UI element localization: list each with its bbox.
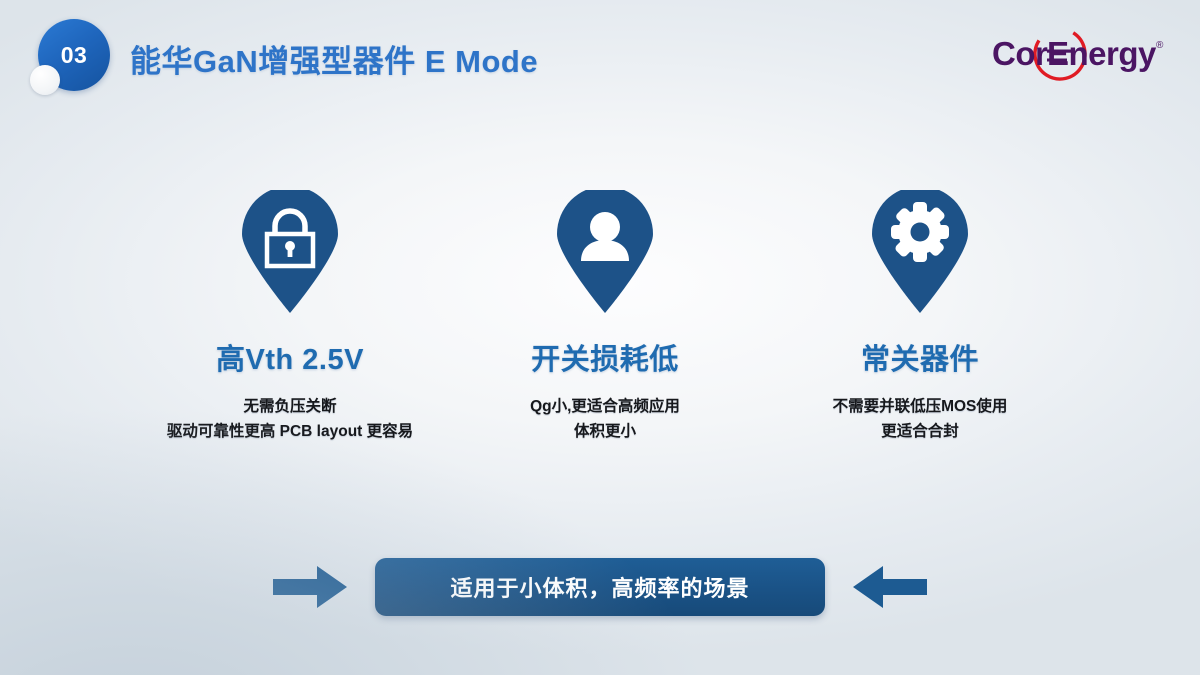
feature-line: Qg小,更适合高频应用 (530, 394, 680, 419)
badge-accent-dot (30, 65, 60, 95)
svg-text:Cor: Cor (992, 35, 1048, 72)
feature-title-2: 开关损耗低 (531, 336, 679, 378)
page-title: 能华GaN增强型器件 E Mode (130, 36, 538, 81)
feature-body-1: 无需负压关断 驱动可靠性更高 PCB layout 更容易 (167, 394, 413, 444)
lock-icon (238, 190, 342, 314)
feature-line: 更适合合封 (833, 419, 1008, 444)
person-icon (553, 190, 657, 314)
feature-card-3: 常关器件 不需要并联低压MOS使用 更适合合封 (770, 190, 1070, 470)
feature-line: 体积更小 (530, 419, 680, 444)
gear-icon (868, 190, 972, 314)
svg-text:Energy: Energy (1047, 35, 1157, 72)
feature-card-2: 开关损耗低 Qg小,更适合高频应用 体积更小 (455, 190, 755, 470)
slide-header: 03 能华GaN增强型器件 E Mode Cor Energy ® (0, 0, 1200, 110)
feature-body-3: 不需要并联低压MOS使用 更适合合封 (833, 394, 1008, 444)
arrow-left-icon (853, 566, 927, 608)
section-number-badge: 03 (30, 19, 116, 97)
feature-columns: 高Vth 2.5V 无需负压关断 驱动可靠性更高 PCB layout 更容易 … (140, 190, 1070, 470)
map-pin-3 (868, 190, 972, 314)
feature-line: 驱动可靠性更高 PCB layout 更容易 (167, 419, 413, 444)
summary-banner-text: 适用于小体积，高频率的场景 (450, 571, 749, 603)
feature-line: 无需负压关断 (167, 394, 413, 419)
corenergy-logo: Cor Energy ® (984, 24, 1174, 86)
svg-text:®: ® (1156, 40, 1164, 51)
summary-banner-row: 适用于小体积，高频率的场景 (0, 548, 1200, 626)
feature-title-3: 常关器件 (861, 336, 979, 378)
feature-line: 不需要并联低压MOS使用 (833, 394, 1008, 419)
slide-canvas: 03 能华GaN增强型器件 E Mode Cor Energy ® (0, 0, 1200, 675)
feature-title-1: 高Vth 2.5V (216, 336, 364, 378)
map-pin-2 (553, 190, 657, 314)
arrow-right-icon (273, 566, 347, 608)
feature-body-2: Qg小,更适合高频应用 体积更小 (530, 394, 680, 444)
corenergy-logo-mark: Cor Energy ® (984, 24, 1174, 86)
feature-card-1: 高Vth 2.5V 无需负压关断 驱动可靠性更高 PCB layout 更容易 (140, 190, 440, 470)
map-pin-1 (238, 190, 342, 314)
summary-banner: 适用于小体积，高频率的场景 (375, 558, 825, 616)
